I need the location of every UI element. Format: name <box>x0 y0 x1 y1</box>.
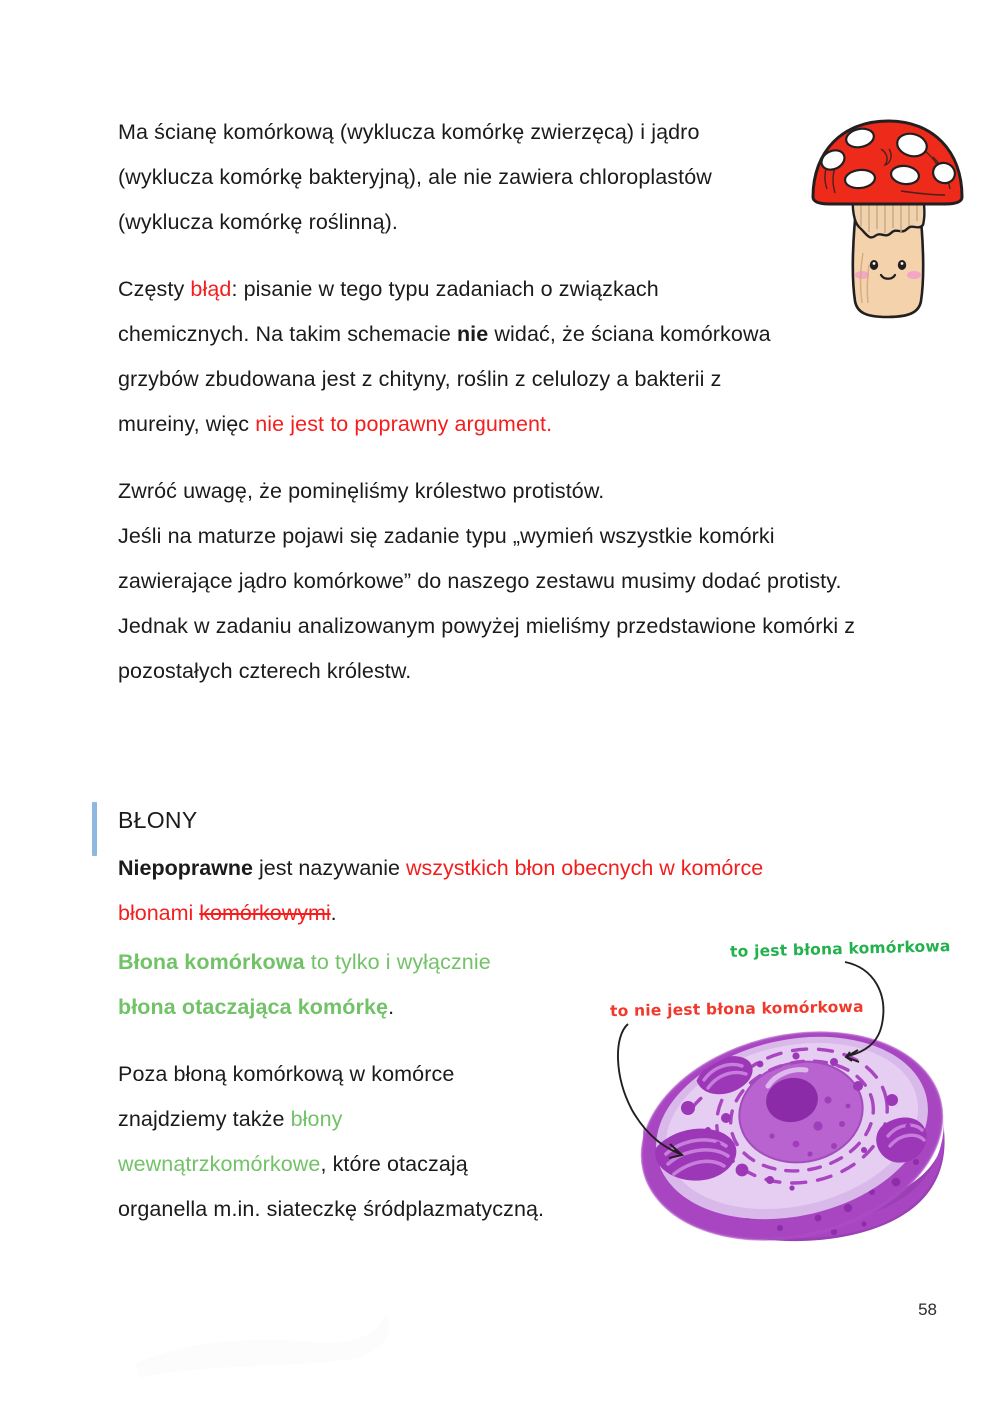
section-body: Niepoprawne jest nazywanie wszystkich bł… <box>92 846 818 936</box>
section-run-2: jest nazywanie <box>253 856 406 880</box>
green-paragraph-period: . <box>388 995 394 1019</box>
left-lower-column: Błona komórkowa to tylko i wyłącznie bło… <box>118 940 588 1254</box>
green-paragraph: Błona komórkowa to tylko i wyłącznie bło… <box>118 940 548 1030</box>
page-watermark <box>110 1302 440 1392</box>
paragraph-2-bold-nie: nie <box>457 322 488 346</box>
paragraph-3: Zwróć uwagę, że pominęliśmy królestwo pr… <box>118 469 878 694</box>
green-run-2: to tylko i wyłącznie <box>305 950 491 974</box>
blue-accent-bar <box>92 802 97 856</box>
animal-cell-icon <box>596 940 986 1265</box>
mushroom-right-eye <box>898 260 906 270</box>
last-paragraph-run-1: Poza błoną komórkową w komórce znajdziem… <box>118 1062 454 1131</box>
blony-section: BŁONY Niepoprawne jest nazywanie wszystk… <box>92 800 882 936</box>
section-heading: BŁONY <box>92 800 882 840</box>
paragraph-2-error-word: błąd <box>190 277 231 301</box>
main-text-column: Ma ścianę komórkową (wyklucza komórkę zw… <box>118 110 878 716</box>
document-page: Ma ścianę komórkową (wyklucza komórkę zw… <box>0 0 992 1402</box>
paragraph-2-red-conclusion: nie jest to poprawny argument. <box>255 412 552 436</box>
green-bold-blona-otaczajaca: błona otaczająca komórkę <box>118 995 388 1019</box>
page-number: 58 <box>918 1300 937 1320</box>
paragraph-2-run-1: Częsty <box>118 277 190 301</box>
paragraph-2: Częsty błąd: pisanie w tego typu zadania… <box>118 267 778 447</box>
mushroom-icon <box>805 105 970 320</box>
section-bold-niepoprawne: Niepoprawne <box>118 856 253 880</box>
mushroom-illustration <box>805 105 970 320</box>
green-bold-blona-komorkowa: Błona komórkowa <box>118 950 305 974</box>
section-title: BŁONY <box>118 800 882 840</box>
paragraph-3-line-1: Zwróć uwagę, że pominęliśmy królestwo pr… <box>118 479 604 503</box>
last-paragraph: Poza błoną komórkową w komórce znajdziem… <box>118 1052 548 1232</box>
section-struck-word: komórkowymi <box>199 901 330 925</box>
mushroom-right-blush <box>907 271 921 279</box>
paragraph-1: Ma ścianę komórkową (wyklucza komórkę zw… <box>118 110 778 245</box>
mushroom-left-eye <box>870 260 878 270</box>
section-period: . <box>331 901 337 925</box>
cell-illustration: to jest błona komórkowa to nie jest błon… <box>596 940 986 1265</box>
paragraph-3-line-2: Jeśli na maturze pojawi się zadanie typu… <box>118 524 855 683</box>
paragraph-1-text: Ma ścianę komórkową (wyklucza komórkę zw… <box>118 120 712 234</box>
